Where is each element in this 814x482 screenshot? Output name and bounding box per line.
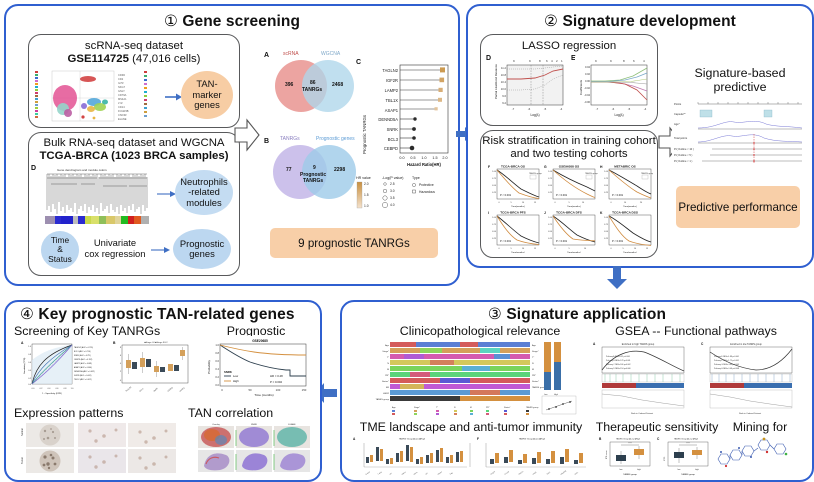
venn-a-overlap-label: TANRGs (302, 87, 322, 93)
svg-text:Pathway F NES=-1.72 p<0.001: Pathway F NES=-1.72 p<0.001 (714, 359, 739, 362)
svg-text:CD3D: CD3D (118, 73, 125, 77)
time-status-callout: Time & Status (41, 231, 79, 269)
svg-text:-6: -6 (528, 107, 531, 111)
svg-text:10: 10 (522, 248, 525, 250)
svg-text:CEBPD: CEBPD (384, 146, 398, 151)
svg-text:PDCD1: PDCD1 (518, 471, 524, 476)
panel-key-prognostic-genes: ④ Key prognostic TAN-related genes Scree… (4, 300, 322, 482)
svg-text:0.25: 0.25 (548, 192, 553, 194)
svg-text:15: 15 (534, 248, 537, 250)
svg-text:2: 2 (120, 371, 122, 373)
svg-text:0.6: 0.6 (56, 388, 60, 390)
svg-text:0: 0 (120, 380, 122, 382)
svg-text:Status*: Status* (504, 406, 511, 409)
svg-text:0: 0 (498, 202, 500, 204)
svg-text:3.0: 3.0 (390, 189, 395, 193)
svg-text:9: 9 (595, 59, 597, 63)
svg-text:Hazardous: Hazardous (419, 190, 435, 194)
predictive-performance-label: Predictive performance (678, 201, 797, 214)
svg-text:-0.02: -0.02 (584, 86, 590, 90)
svg-text:0.25: 0.25 (604, 192, 609, 194)
svg-text:Pathway C NES=1.66 p=0.002: Pathway C NES=1.66 p=0.002 (606, 363, 630, 366)
svg-text:TANRS Group ■Low ■High: TANRS Group ■Low ■High (399, 438, 426, 441)
svg-text:150: 150 (302, 388, 307, 392)
svg-text:PR*: PR* (486, 407, 490, 409)
svg-text:K: K (600, 211, 603, 215)
svg-text:0.6: 0.6 (28, 362, 32, 364)
cox-line2: cox regression (79, 248, 151, 259)
svg-text:3.5: 3.5 (390, 196, 395, 200)
cox-regression-label: Univariate cox regression (79, 237, 151, 259)
svg-text:high: high (637, 469, 641, 471)
svg-text:P < 0.001: P < 0.001 (556, 239, 568, 243)
svg-text:HER2: HER2 (383, 393, 390, 395)
svg-text:A: A (593, 342, 596, 346)
nomogram-figure: Points Capsule** Age* Total points (672, 98, 806, 170)
svg-text:-4: -4 (560, 107, 563, 111)
svg-text:F: F (488, 165, 490, 169)
svg-text:0: 0 (610, 202, 612, 204)
svg-text:J: J (544, 211, 546, 215)
svg-text:-7: -7 (596, 107, 599, 111)
svg-text:TBL1X: TBL1X (385, 98, 398, 103)
venn-b-overlap-label-2: TANRGs (303, 178, 323, 184)
svg-text:1.00: 1.00 (604, 217, 609, 219)
svg-text:Coefficients: Coefficients (579, 79, 583, 95)
svg-text:Stage*: Stage* (532, 350, 539, 353)
svg-text:9.2: 9.2 (502, 101, 506, 105)
svg-text:-4: -4 (644, 107, 647, 111)
survival-curve-grid: F TCGA-BRCA OS P < 0.001 TANRS group 1.0… (487, 163, 653, 253)
panel-signature-application: ③ Signature application Clinicopathologi… (340, 300, 814, 482)
svg-text:1.00: 1.00 (548, 217, 553, 219)
nomogram-caption-line1: Signature-based predictive (674, 66, 806, 94)
svg-text:P = 0.002: P = 0.002 (270, 380, 282, 384)
svg-text:Time (months): Time (months) (254, 393, 273, 397)
svg-text:M: M (470, 407, 472, 409)
screening-caption: Screening of Key TANRGs (14, 324, 190, 338)
prognostic-genes-callout: Prognostic genes (173, 229, 231, 269)
svg-text:TANRS group: TANRS group (529, 172, 543, 175)
scrna-caption-line2: GSE114725 (47,016 cells) (29, 53, 239, 66)
panel-2-number: ② (544, 13, 558, 30)
forest-ylabel: Prognostic TANRGs (362, 115, 367, 154)
scrna-caption-line1: scRNA-seq dataset (29, 40, 239, 53)
svg-text:B cells: B cells (365, 471, 370, 476)
svg-text:SNRK: SNRK (251, 424, 258, 426)
svg-text:10.0: 10.0 (501, 87, 507, 91)
expression-patterns-caption: Expression patterns (14, 406, 174, 420)
svg-text:BCL3: BCL3 (139, 388, 144, 393)
drug-structures (712, 435, 808, 477)
svg-text:1.0: 1.0 (71, 388, 75, 390)
svg-text:0.8: 0.8 (64, 388, 68, 390)
svg-text:4: 4 (120, 363, 122, 365)
panel-1-title: ① Gene screening (6, 12, 458, 31)
svg-text:0.25: 0.25 (492, 238, 497, 240)
svg-text:1.00: 1.00 (492, 217, 497, 219)
svg-text:-5: -5 (628, 107, 631, 111)
svg-text:CD14: CD14 (118, 105, 125, 109)
panel-3-title-text: Signature application (506, 306, 666, 323)
svg-text:B: B (599, 437, 602, 441)
svg-text:Status*: Status* (382, 380, 389, 383)
svg-text:0.4: 0.4 (28, 370, 32, 372)
svg-text:SNRK: SNRK (387, 127, 399, 132)
panel-4-title-text: Key prognostic TAN-related genes (38, 306, 294, 323)
svg-text:1.5: 1.5 (364, 193, 369, 197)
svg-text:20: 20 (640, 202, 643, 204)
svg-text:Partial Likelihood Deviance: Partial Likelihood Deviance (494, 64, 498, 99)
result-box-9-tanrgs-label: 9 prognostic TANRGs (298, 237, 410, 250)
svg-text:LAG3: LAG3 (532, 471, 537, 476)
svg-text:8: 8 (623, 59, 625, 63)
svg-text:IPS score: IPS score (606, 449, 608, 459)
wgcna-dendrogram: Gene dendrogram and module colors (37, 166, 159, 228)
svg-text:Sensitivity (TPR): Sensitivity (TPR) (23, 357, 26, 374)
svg-text:CD2: CD2 (118, 77, 124, 81)
svg-text:LYZ: LYZ (118, 101, 123, 105)
svg-text:Probability: Probability (207, 359, 211, 374)
svg-text:Macro: Macro (401, 471, 407, 476)
cox-line1: Univariate (79, 237, 151, 248)
neutrophil-modules-callout: Neutrophils -related modules (175, 170, 233, 215)
tan-correlation-images: OverlaySNRKELANE (192, 422, 314, 474)
svg-text:0.2: 0.2 (40, 388, 44, 390)
forest-plot: C Prognostic TANRGs TAGLN2IGF2RLAMP2 TBL… (356, 58, 454, 188)
svg-text:5: 5 (510, 248, 512, 250)
scrna-accession: GSE114725 (68, 53, 129, 65)
svg-text:High: High (554, 394, 558, 396)
svg-text:0.50: 0.50 (604, 231, 609, 233)
svg-text:6: 6 (546, 59, 548, 63)
svg-text:15: 15 (534, 202, 537, 204)
lasso-deviance-plot: 998 6421 11.210.810.4 10.09.69.2 -7-6-5-… (491, 57, 567, 119)
svg-text:Pathway A NES=1.92 p<0.001: Pathway A NES=1.92 p<0.001 (606, 355, 630, 358)
svg-text:TCGA-BRCA PFS: TCGA-BRCA PFS (500, 211, 526, 215)
panel-signature-development: ② Signature development LASSO regression… (466, 4, 814, 268)
svg-text:CD79A: CD79A (118, 93, 127, 97)
lasso-subbox: LASSO regression D 998 6421 11.210.810.4 (480, 34, 658, 126)
therapeutic-boxplots: B TANRS Group ■Low ■High **** lowhigh TA… (598, 435, 714, 477)
svg-text:2.0: 2.0 (364, 182, 369, 186)
svg-text:0.50: 0.50 (492, 185, 497, 187)
svg-text:0.0: 0.0 (32, 388, 36, 390)
svg-text:A: A (353, 437, 356, 441)
svg-text:Normal: Normal (21, 428, 24, 436)
svg-text:DC: DC (425, 472, 429, 475)
venn-b-right-count: 2298 (334, 167, 345, 173)
svg-text:PR*: PR* (532, 375, 536, 377)
svg-text:50: 50 (248, 388, 252, 392)
svg-text:T*: T* (436, 407, 438, 409)
svg-text:4.0: 4.0 (390, 203, 395, 207)
svg-text:SNRK: SNRK (224, 370, 232, 374)
svg-text:15: 15 (646, 248, 649, 250)
svg-text:Time(months): Time(months) (511, 205, 525, 208)
svg-text:NKG7: NKG7 (118, 85, 126, 89)
svg-text:Stage*: Stage* (382, 350, 389, 353)
clinicopathological-heatmap: AgeStage*T* NMPR* Status*ERHER2 TANRS gr… (370, 340, 580, 418)
svg-text:METABRIC OS: METABRIC OS (614, 165, 635, 169)
panel-1-number: ① (164, 13, 178, 30)
svg-text:TAGLN2: TAGLN2 (382, 68, 398, 73)
venn-a-right-circle (302, 60, 354, 112)
svg-text:0.0: 0.0 (215, 383, 219, 387)
svg-text:T*: T* (387, 357, 389, 359)
svg-text:HR = 0.48: HR = 0.48 (270, 374, 283, 378)
dendrogram-panel-letter: D (31, 165, 36, 172)
svg-text:CTLA4: CTLA4 (504, 470, 510, 476)
svg-text:6: 6 (633, 59, 635, 63)
svg-text:Overlay: Overlay (212, 423, 220, 426)
svg-text:Rank in Ordered Dataset: Rank in Ordered Dataset (631, 412, 654, 415)
svg-text:0.4: 0.4 (215, 367, 219, 371)
svg-text:0.25: 0.25 (548, 238, 553, 240)
svg-text:-Log(P value): -Log(P value) (382, 176, 404, 180)
screening-hollow-arrow (234, 118, 260, 152)
svg-text:Age: Age (392, 406, 396, 409)
svg-text:P < 0.001: P < 0.001 (612, 193, 624, 197)
svg-text:10: 10 (634, 248, 637, 250)
therapeutic-caption: Therapeutic sensitivity (594, 420, 720, 434)
panel-4-title: ④ Key prognostic TAN-related genes (20, 305, 320, 324)
venn-diagram-b: B TANRGs Prognostic genes 77 9 Prognosti… (264, 134, 364, 214)
svg-text:Low: Low (544, 394, 548, 396)
svg-text:10.8: 10.8 (501, 73, 507, 77)
tsne-plot: CD3DCD2IL7R NKG7GNLYCD79A MS4A1LYZCD14 F… (34, 68, 162, 124)
svg-text:0.00: 0.00 (585, 79, 591, 83)
svg-text:TANRS group: TANRS group (641, 172, 653, 175)
svg-text:****: **** (686, 443, 690, 445)
svg-text:M: M (387, 369, 389, 371)
svg-text:4: 4 (643, 59, 645, 63)
svg-text:Tumor: Tumor (21, 457, 24, 464)
svg-text:0.8: 0.8 (28, 354, 32, 356)
svg-text:0.75: 0.75 (548, 224, 553, 226)
tme-caption: TME landscape and anti-tumor immunity (346, 420, 596, 434)
svg-text:11.2: 11.2 (501, 66, 507, 70)
svg-text:T*: T* (532, 357, 534, 359)
svg-text:GSE96058 OS: GSE96058 OS (559, 165, 579, 169)
svg-text:2.0: 2.0 (442, 156, 447, 160)
svg-text:I: I (488, 211, 489, 215)
svg-text:CD274: CD274 (490, 471, 496, 476)
svg-text:ASAP1: ASAP1 (385, 108, 399, 113)
svg-text:0: 0 (498, 248, 500, 250)
svg-text:1.0: 1.0 (215, 343, 219, 347)
svg-text:-6: -6 (612, 107, 615, 111)
venn-a-letter: A (264, 52, 269, 59)
venn-a-left-count: 396 (285, 82, 293, 88)
svg-text:0.2: 0.2 (215, 375, 219, 379)
svg-text:ELANE: ELANE (288, 423, 296, 426)
lasso-coefficient-plot: 998 64 0.040.020.00 -0.02-0.04-0.06 (575, 57, 651, 119)
svg-text:1.0: 1.0 (421, 156, 426, 160)
svg-text:F: F (477, 437, 479, 441)
panel-3-title: ③ Signature application (342, 305, 812, 324)
svg-text:4: 4 (551, 59, 553, 63)
svg-text:9: 9 (513, 59, 515, 63)
svg-text:9.6: 9.6 (502, 94, 506, 98)
svg-text:TANRS group: TANRS group (681, 473, 695, 476)
svg-text:N: N (387, 363, 389, 365)
svg-text:NK: NK (389, 472, 393, 475)
svg-text:Pathway D NES=1.54 p=0.006: Pathway D NES=1.54 p=0.006 (606, 367, 630, 370)
svg-text:Time(months): Time(months) (623, 205, 637, 208)
svg-text:8: 8 (120, 347, 122, 349)
prog-line2: genes (180, 249, 224, 260)
svg-text:0.8: 0.8 (215, 351, 219, 355)
svg-text:LAMP2 (AUC = 0.681): LAMP2 (AUC = 0.681) (74, 362, 92, 365)
svg-text:1.0: 1.0 (364, 204, 369, 208)
risk-caption-line2: and two testing cohorts (481, 148, 657, 161)
venn-a-right-label: WGCNA (321, 51, 340, 57)
svg-text:10: 10 (522, 202, 525, 204)
svg-text:Time(months): Time(months) (567, 251, 581, 253)
svg-text:TANRS group: TANRS group (585, 172, 599, 175)
svg-text:0: 0 (610, 248, 612, 250)
svg-text:Status*: Status* (532, 380, 539, 383)
svg-text:DENND5A: DENND5A (378, 117, 398, 122)
svg-text:GSE20685: GSE20685 (252, 339, 268, 343)
modules-line3: modules (180, 198, 227, 209)
svg-text:1.0: 1.0 (28, 346, 32, 348)
gsea-caption: GSEA -- Functional pathways (588, 324, 804, 338)
svg-text:TANRS group: TANRS group (526, 406, 539, 409)
svg-text:Rank in Ordered Dataset: Rank in Ordered Dataset (739, 412, 762, 415)
venn-a-left-label: scRNA (283, 51, 299, 57)
risk-stratification-subbox: Risk stratification in training cohort a… (480, 130, 658, 258)
svg-text:P < 0.001: P < 0.001 (556, 193, 568, 197)
svg-text:6: 6 (120, 355, 122, 357)
svg-text:BCL3: BCL3 (388, 137, 399, 142)
svg-text:TCGA-BRCA DFS: TCGA-BRCA DFS (556, 211, 582, 215)
svg-text:0.25: 0.25 (492, 192, 497, 194)
svg-text:1.00: 1.00 (548, 171, 553, 173)
venn-b-left-count: 77 (286, 167, 292, 173)
svg-text:5: 5 (622, 248, 624, 250)
venn-b-left-label: TANRGs (280, 136, 300, 142)
svg-text:P < 0.001: P < 0.001 (500, 193, 512, 197)
svg-text:0.75: 0.75 (548, 178, 553, 180)
venn-a-right-count: 2468 (332, 82, 343, 88)
svg-text:A: A (21, 341, 24, 345)
svg-text:IC50: IC50 (664, 456, 666, 461)
svg-text:0.75: 0.75 (492, 178, 497, 180)
svg-text:10.4: 10.4 (501, 80, 507, 84)
svg-text:N: N (532, 363, 534, 365)
svg-text:Pr( Outline < 10 ): Pr( Outline < 10 ) (674, 147, 694, 151)
venn-b-letter: B (264, 138, 269, 145)
svg-text:Hazard Ratio(HR): Hazard Ratio(HR) (407, 162, 441, 167)
svg-text:1: 1 (561, 59, 563, 63)
svg-text:TANRS group: TANRS group (623, 473, 637, 476)
venn-diagram-a: A scRNA WGCNA 396 86 TANRGs 2468 (264, 48, 360, 126)
svg-text:TAGLN2 (AUC = 0.739): TAGLN2 (AUC = 0.739) (74, 346, 93, 349)
svg-text:8: 8 (539, 59, 541, 63)
bulk-caption-line2: TCGA-BRCA (1023 BRCA samples) (29, 150, 239, 163)
svg-text:-0.04: -0.04 (584, 93, 590, 97)
svg-text:Log(λ): Log(λ) (530, 113, 539, 117)
svg-text:P < 0.001: P < 0.001 (500, 239, 512, 243)
svg-text:TBL1X (AUC = 0.612): TBL1X (AUC = 0.612) (74, 378, 92, 381)
svg-text:IL7R: IL7R (118, 81, 124, 85)
svg-text:0: 0 (554, 248, 556, 250)
svg-text:TANRS Group ■Low ■High: TANRS Group ■Low ■High (519, 438, 546, 441)
svg-text:PR*: PR* (385, 375, 389, 377)
svg-text:10: 10 (584, 248, 587, 250)
ihc-expression-images: Normal Tumor (20, 422, 178, 474)
svg-text:0.0: 0.0 (28, 384, 32, 386)
svg-text:Mono: Mono (413, 472, 418, 476)
svg-text:Time(months): Time(months) (567, 205, 581, 208)
svg-text:1 - Specificity (FPR): 1 - Specificity (FPR) (42, 392, 62, 395)
svg-text:0.04: 0.04 (585, 65, 591, 69)
scrna-cellcount: (47,016 cells) (129, 53, 201, 65)
svg-text:1.5: 1.5 (432, 156, 437, 160)
svg-text:Gene dendrogram and module col: Gene dendrogram and module colors (57, 168, 107, 172)
forest-plot-svg: TAGLN2IGF2RLAMP2 TBL1XASAP1DENND5A SNRKB… (356, 58, 454, 188)
svg-text:G: G (544, 165, 547, 169)
svg-text:Points: Points (674, 102, 682, 106)
svg-text:BCL3 (AUC = 0.716): BCL3 (AUC = 0.716) (74, 350, 91, 353)
svg-text:9: 9 (529, 59, 531, 63)
svg-text:0.75: 0.75 (492, 224, 497, 226)
venn-b-overlap-count: 9 (313, 165, 316, 171)
svg-text:5: 5 (568, 248, 570, 250)
svg-text:0.75: 0.75 (604, 178, 609, 180)
svg-text:0.5: 0.5 (410, 156, 415, 160)
tan-correlation-caption: TAN correlation (188, 406, 312, 420)
svg-text:HAVCR2: HAVCR2 (560, 469, 567, 475)
svg-text:0.75: 0.75 (604, 224, 609, 226)
svg-text:Age: Age (385, 344, 390, 347)
figure-canvas: ① Gene screening scRNA-seq dataset GSE11… (0, 0, 814, 482)
svg-text:Neutro: Neutro (437, 470, 443, 475)
gse20685-survival-plot: GSE20685 1.00.80.6 0.40.20.0 050100150 T… (198, 336, 316, 404)
svg-text:0: 0 (221, 388, 223, 392)
svg-text:SNRK (AUC = 0.711): SNRK (AUC = 0.711) (74, 354, 91, 357)
svg-text:9: 9 (610, 59, 612, 63)
venn-b-right-label: Prognostic genes (316, 136, 355, 142)
svg-text:ELANE: ELANE (118, 117, 127, 121)
panel-gene-screening: ① Gene screening scRNA-seq dataset GSE11… (4, 4, 460, 286)
svg-text:IDO1: IDO1 (574, 472, 578, 476)
svg-text:M: M (532, 369, 534, 371)
svg-text:****: **** (628, 443, 632, 445)
svg-text:TANRS group: TANRS group (376, 398, 390, 401)
tme-boxplots: A TANRS Group ■Low ■High (352, 435, 592, 477)
svg-text:Pathway G NES=-1.60 p=0.003: Pathway G NES=-1.60 p=0.003 (714, 363, 739, 366)
svg-text:GNLY: GNLY (118, 89, 125, 93)
svg-text:1.00: 1.00 (492, 171, 497, 173)
svg-text:Pr( Outline < 5 ): Pr( Outline < 5 ) (674, 153, 693, 157)
svg-text:Time(months): Time(months) (623, 251, 637, 253)
svg-text:Pathway B NES=1.78 p<0.001: Pathway B NES=1.78 p<0.001 (606, 359, 630, 362)
svg-text:Stage*: Stage* (414, 406, 420, 409)
clinico-caption: Clinicopathological relevance (360, 324, 600, 338)
svg-text:C: C (657, 437, 660, 441)
svg-text:MS4A1: MS4A1 (118, 97, 127, 101)
svg-text:N: N (454, 407, 456, 409)
bulk-caption-line1: Bulk RNA-seq dataset and WGCNA (29, 137, 239, 150)
svg-text:Total points: Total points (674, 136, 688, 140)
panel2-to-panel3-arrow (606, 266, 628, 290)
svg-text:T cells: T cells (377, 471, 382, 476)
svg-text:Protective: Protective (419, 183, 434, 187)
dendrogram-to-modules-arrow (157, 189, 177, 199)
